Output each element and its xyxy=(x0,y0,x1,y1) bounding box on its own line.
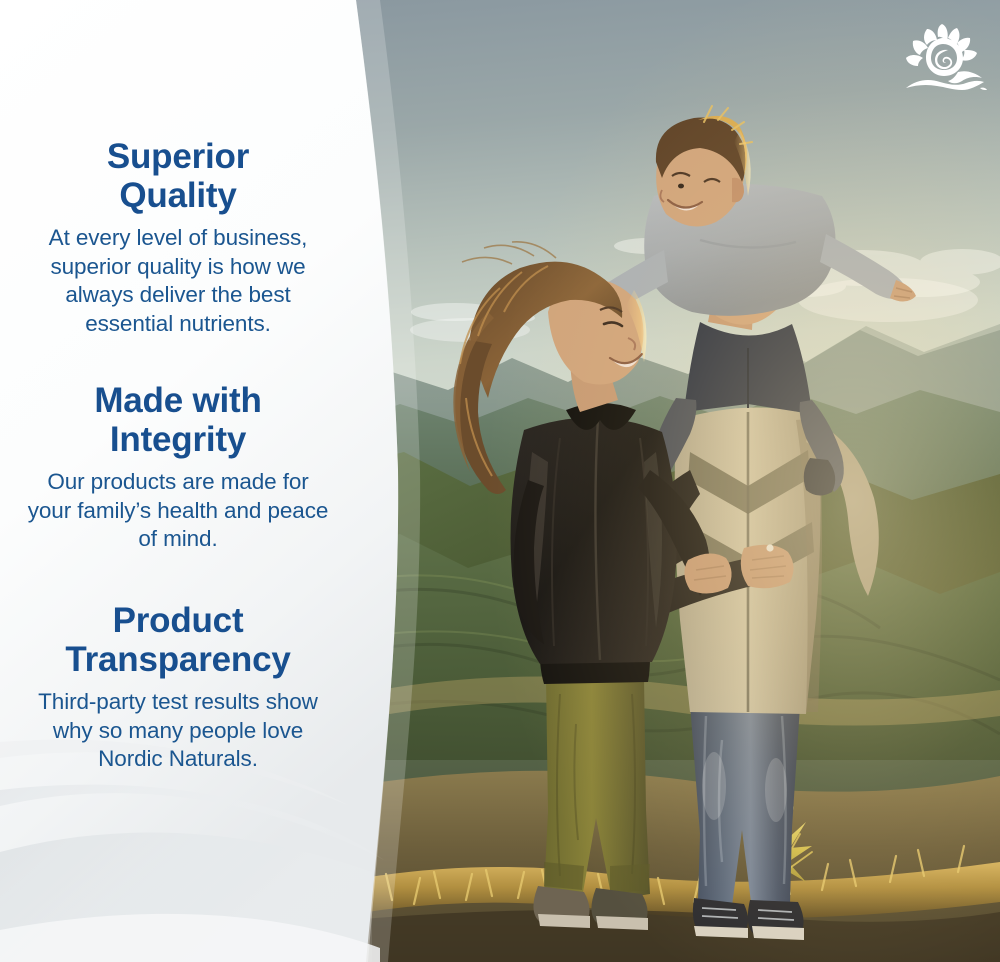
heading-line-1: Made with xyxy=(14,381,342,420)
value-heading-superior-quality: Superior Quality xyxy=(0,137,356,215)
brand-values-column: Superior Quality At every level of busin… xyxy=(0,0,356,962)
heading-line-1: Product xyxy=(14,601,342,640)
heading-line-2: Integrity xyxy=(14,420,342,459)
value-block-made-with-integrity: Made with Integrity Our products are mad… xyxy=(0,381,356,554)
heading-line-2: Transparency xyxy=(14,640,342,679)
value-body-made-with-integrity: Our products are made for your family’s … xyxy=(0,468,356,554)
value-heading-made-with-integrity: Made with Integrity xyxy=(0,381,356,459)
value-block-superior-quality: Superior Quality At every level of busin… xyxy=(0,137,356,338)
value-block-product-transparency: Product Transparency Third-party test re… xyxy=(0,601,356,774)
value-heading-product-transparency: Product Transparency xyxy=(0,601,356,679)
promo-graphic: Superior Quality At every level of busin… xyxy=(0,0,1000,962)
nordic-naturals-sun-and-waves-logo xyxy=(898,22,990,96)
heading-line-2: Quality xyxy=(14,176,342,215)
value-body-superior-quality: At every level of business, superior qua… xyxy=(0,224,356,338)
heading-line-1: Superior xyxy=(14,137,342,176)
value-body-product-transparency: Third-party test results show why so man… xyxy=(0,688,356,774)
